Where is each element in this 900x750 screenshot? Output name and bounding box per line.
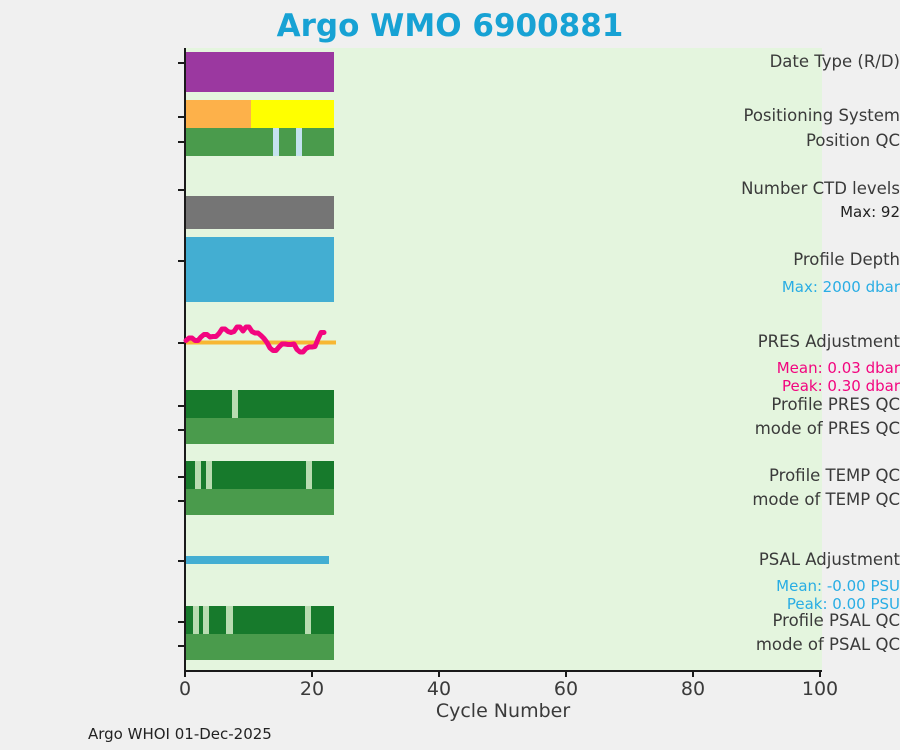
segment-profile-temp-qc-a3 xyxy=(212,461,306,489)
segment-profile-temp-qc-a1 xyxy=(186,461,195,489)
segment-profile-pres-qc-a1 xyxy=(186,390,232,418)
row-label-pres-peak: Peak: 0.30 dbar xyxy=(718,377,900,396)
row-label-mode-psal-qc: mode of PSAL QC xyxy=(718,635,900,654)
ytick-profile-temp-qc xyxy=(178,476,185,478)
row-label-depth-max: Max: 2000 dbar xyxy=(718,278,900,297)
bar-profile-depth xyxy=(186,237,334,302)
argo-float-summary-figure: Argo WMO 6900881 Date Type (R/D) Positio… xyxy=(0,0,900,750)
row-label-psal-mean: Mean: -0.00 PSU xyxy=(718,577,900,596)
ytick-profile-pres-qc xyxy=(178,405,185,407)
row-label-profile-pres-qc: Profile PRES QC xyxy=(718,395,900,414)
bar-profile-temp-qc xyxy=(186,461,334,489)
xticklabel-100: 100 xyxy=(790,678,850,700)
segment-ctd-levels xyxy=(186,196,334,229)
segment-mode-psal-qc xyxy=(186,634,334,660)
page-title: Argo WMO 6900881 xyxy=(0,8,900,44)
row-label-ctd-max: Max: 92 xyxy=(718,203,900,222)
psal-adjustment-plot xyxy=(184,548,344,572)
row-label-pres-mean: Mean: 0.03 dbar xyxy=(718,359,900,378)
row-label-pres-adjustment: PRES Adjustment xyxy=(718,332,900,351)
segment-positioning-gps xyxy=(251,100,334,128)
footer-attribution: Argo WHOI 01-Dec-2025 xyxy=(88,725,272,743)
ytick-mode-pres-qc xyxy=(178,429,185,431)
xtick-20 xyxy=(311,670,313,677)
x-axis-line xyxy=(184,670,822,672)
bar-date-type xyxy=(186,52,334,92)
row-label-mode-pres-qc: mode of PRES QC xyxy=(718,419,900,438)
row-label-position-qc: Position QC xyxy=(718,131,900,150)
xtick-80 xyxy=(692,670,694,677)
ytick-position-qc xyxy=(178,141,185,143)
bar-mode-pres-qc xyxy=(186,418,334,444)
xticklabel-80: 80 xyxy=(663,678,723,700)
xtick-0 xyxy=(184,670,186,677)
segment-position-qc-1c xyxy=(302,128,334,156)
row-label-number-ctd-levels: Number CTD levels xyxy=(718,179,900,198)
segment-positioning-argos xyxy=(186,100,251,128)
ytick-date-type xyxy=(178,62,185,64)
xtick-40 xyxy=(438,670,440,677)
xticklabel-60: 60 xyxy=(536,678,596,700)
xtick-100 xyxy=(819,670,821,677)
segment-profile-psal-qc-a5 xyxy=(311,606,334,634)
bar-profile-pres-qc xyxy=(186,390,334,418)
segment-profile-pres-qc-a2 xyxy=(238,390,334,418)
row-label-date-type: Date Type (R/D) xyxy=(718,52,900,71)
segment-date-type-R xyxy=(186,52,334,92)
segment-mode-pres-qc xyxy=(186,418,334,444)
row-label-profile-temp-qc: Profile TEMP QC xyxy=(718,466,900,485)
segment-profile-psal-qc-a3 xyxy=(209,606,226,634)
xticklabel-20: 20 xyxy=(282,678,342,700)
ytick-mode-temp-qc xyxy=(178,500,185,502)
ytick-number-ctd-levels xyxy=(178,189,185,191)
bar-number-ctd-levels xyxy=(186,196,334,229)
segment-profile-temp-qc-a4 xyxy=(312,461,334,489)
bar-position-qc xyxy=(186,128,334,156)
row-label-profile-psal-qc: Profile PSAL QC xyxy=(718,611,900,630)
pres-adjustment-plot xyxy=(184,318,344,366)
xticklabel-40: 40 xyxy=(409,678,469,700)
row-label-mode-temp-qc: mode of TEMP QC xyxy=(718,490,900,509)
segment-mode-temp-qc xyxy=(186,489,334,515)
ytick-mode-psal-qc xyxy=(178,645,185,647)
segment-profile-psal-qc-a4 xyxy=(233,606,305,634)
bar-mode-temp-qc xyxy=(186,489,334,515)
row-label-psal-adjustment: PSAL Adjustment xyxy=(718,550,900,569)
row-label-positioning-system: Positioning System xyxy=(718,106,900,125)
bar-mode-psal-qc xyxy=(186,634,334,660)
row-label-profile-depth: Profile Depth xyxy=(718,250,900,269)
xticklabel-0: 0 xyxy=(155,678,215,700)
x-axis-title: Cycle Number xyxy=(184,700,822,722)
ytick-positioning-system xyxy=(178,116,185,118)
segment-profile-depth xyxy=(186,237,334,302)
segment-profile-psal-qc-a1 xyxy=(186,606,193,634)
xtick-60 xyxy=(565,670,567,677)
bar-positioning-system xyxy=(186,100,334,128)
ytick-profile-depth xyxy=(178,260,185,262)
segment-position-qc-1b xyxy=(279,128,296,156)
ytick-profile-psal-qc xyxy=(178,621,185,623)
bar-profile-psal-qc xyxy=(186,606,334,634)
segment-profile-psal-qc-gap3 xyxy=(226,606,233,634)
pres-adjustment-line xyxy=(186,327,324,352)
segment-position-qc-1a xyxy=(186,128,273,156)
